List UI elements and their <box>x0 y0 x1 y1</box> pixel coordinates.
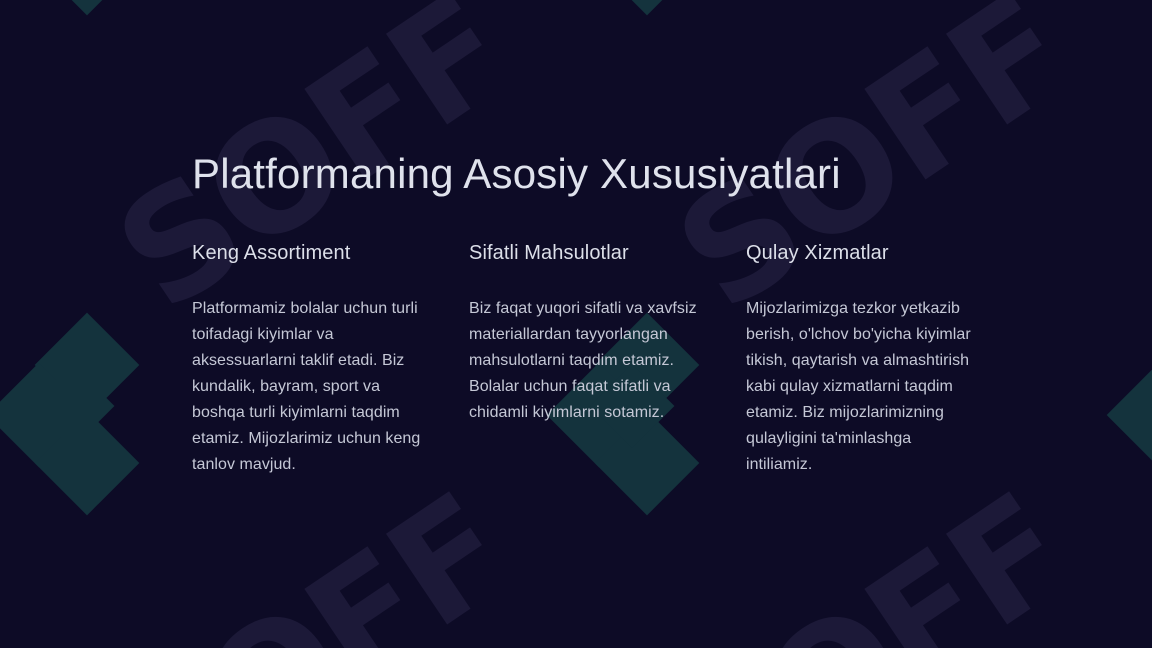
slide-content: Platformaning Asosiy Xususiyatlari Keng … <box>0 0 1152 648</box>
presentation-slide: SOFFSOFFSOFFSOFFSOFFSOFFSOFFSOFFSOFFSOFF… <box>0 0 1152 648</box>
feature-body-keng-assortiment: Platformamiz bolalar uchun turli toifada… <box>192 296 428 478</box>
feature-column-3: Qulay Xizmatlar Mijozlarimizga tezkor ye… <box>746 240 982 478</box>
feature-heading-keng-assortiment: Keng Assortiment <box>192 240 428 266</box>
feature-body-sifatli-mahsulotlar: Biz faqat yuqori sifatli va xavfsiz mate… <box>469 296 705 426</box>
page-title: Platformaning Asosiy Xususiyatlari <box>192 148 841 200</box>
feature-column-2: Sifatli Mahsulotlar Biz faqat yuqori sif… <box>469 240 705 478</box>
features-columns: Keng Assortiment Platformamiz bolalar uc… <box>192 240 982 478</box>
feature-heading-sifatli-mahsulotlar: Sifatli Mahsulotlar <box>469 240 705 266</box>
feature-heading-qulay-xizmatlar: Qulay Xizmatlar <box>746 240 982 266</box>
feature-body-qulay-xizmatlar: Mijozlarimizga tezkor yetkazib berish, o… <box>746 296 982 478</box>
feature-column-1: Keng Assortiment Platformamiz bolalar uc… <box>192 240 428 478</box>
